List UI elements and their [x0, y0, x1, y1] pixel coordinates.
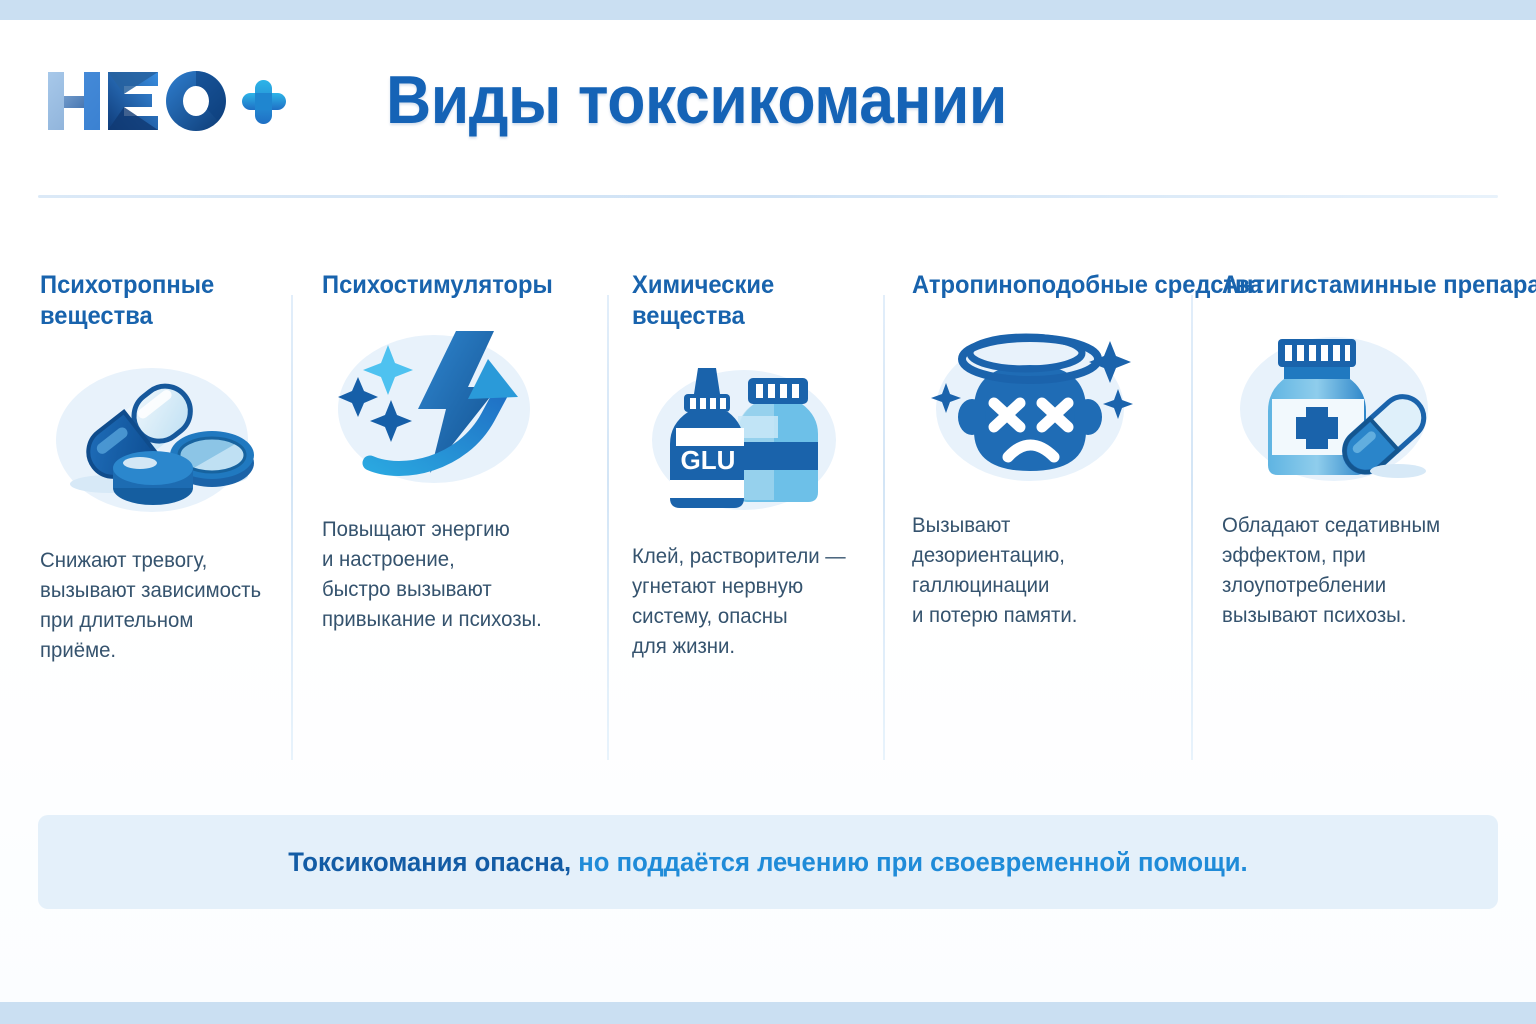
banner-text: Токсикомания опасна, но поддаётся лечени… [288, 847, 1247, 878]
category-title: Атропиноподобные средства [912, 270, 1151, 301]
column-separator [1191, 295, 1193, 760]
category-column-stimulants: Психостимуляторы [322, 270, 574, 635]
category-body: Повыщают энергию и настроение, быстро вы… [322, 515, 566, 635]
top-accent-band [0, 0, 1536, 20]
category-title: Антигистаминные препараты [1222, 270, 1461, 301]
category-columns: Психотропные вещества [0, 270, 1536, 770]
banner-rest-text: но поддаётся лечению при своевременной п… [571, 847, 1247, 877]
pills-capsule-icon [40, 356, 292, 524]
neo-plus-logo [46, 68, 286, 134]
page-title: Виды токсикомании [386, 62, 1007, 138]
category-column-atropine: Атропиноподобные средства [912, 270, 1164, 631]
category-body: Снижают тревогу, вызывают зависимость пр… [40, 546, 284, 666]
glue-solvent-bottles-icon: GLU [632, 356, 884, 524]
banner-strong-text: Токсикомания опасна, [288, 847, 571, 877]
category-body: Клей, растворители — угнетают нервную си… [632, 542, 876, 662]
glue-label: GLU [681, 445, 736, 475]
category-column-chemicals: Химические вещества [632, 270, 884, 662]
pill-bottle-capsule-icon [1222, 325, 1474, 493]
header-divider [38, 195, 1498, 198]
category-body: Обладают седативным эффектом, при злоупо… [1222, 511, 1466, 631]
category-title: Химические вещества [632, 270, 871, 332]
category-body: Вызывают дезориентацию, галлюцинации и п… [912, 511, 1156, 631]
lightning-bolt-arrow-icon [322, 325, 574, 493]
category-column-psychotropic: Психотропные вещества [40, 270, 292, 666]
category-title: Психотропные вещества [40, 270, 279, 332]
column-separator [607, 295, 609, 760]
header: Виды токсикомании [0, 20, 1536, 195]
category-column-antihistamine: Антигистаминные препараты [1222, 270, 1474, 631]
category-title: Психостимуляторы [322, 270, 561, 301]
summary-banner: Токсикомания опасна, но поддаётся лечени… [38, 815, 1498, 909]
infographic-page: Виды токсикомании Психотропные вещества [0, 20, 1536, 1002]
bottom-accent-band [0, 1002, 1536, 1024]
dizzy-head-icon [912, 325, 1164, 493]
